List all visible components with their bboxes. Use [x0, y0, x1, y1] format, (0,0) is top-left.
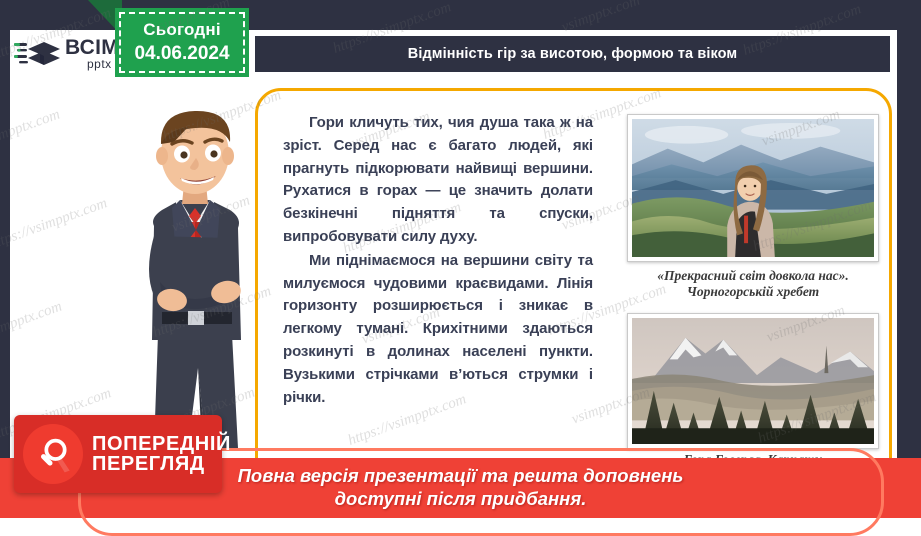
watermark: https://vsimpptx.com — [0, 195, 110, 254]
paragraph-2: Ми піднімаємося на вершини світу та милу… — [283, 250, 593, 410]
paragraph-1: Гори кличуть тих, чия душа така ж на зрі… — [283, 112, 593, 249]
banner-line-2: доступні після придбання. — [335, 488, 587, 509]
preview-line-1: ПОПЕРЕДНІЙ — [92, 434, 231, 454]
banner-text: Повна версія презентації та решта доповн… — [238, 465, 684, 511]
navy-right-strip — [897, 0, 921, 518]
logo-main-text: ВСІМ — [65, 38, 119, 58]
navy-top-right-bar — [252, 0, 921, 30]
today-label: Сьогодні — [143, 20, 221, 40]
photo-caption-1: «Прекрасний світ довкола нас». Чорногорс… — [619, 268, 887, 301]
preview-badge-text: ПОПЕРЕДНІЙ ПЕРЕГЛЯД — [92, 434, 231, 474]
caption-1-line-2: Чорногорській хребет — [687, 284, 819, 299]
magnifier-icon — [23, 424, 83, 484]
slide-canvas: ВСІМ pptx Сьогодні 04.06.2024 Відмінніст… — [0, 0, 921, 518]
caption-1-line-1: «Прекрасний світ довкола нас». — [657, 268, 849, 283]
slide-title-bar: Відмінність гір за висотою, формою та ві… — [255, 36, 890, 72]
body-text-column: Гори кличуть тих, чия душа така ж на зрі… — [283, 112, 593, 457]
today-badge: Сьогодні 04.06.2024 — [115, 8, 249, 77]
businessman-3d-character — [110, 96, 280, 456]
preview-line-2: ПЕРЕГЛЯД — [92, 454, 231, 474]
banner-line-1: Повна версія презентації та решта доповн… — [238, 465, 684, 486]
girl-on-mountain-photo — [627, 114, 879, 262]
snowy-mountain-photo — [627, 313, 879, 449]
today-date: 04.06.2024 — [134, 43, 229, 65]
preview-badge: ПОПЕРЕДНІЙ ПЕРЕГЛЯД — [14, 415, 222, 493]
graduation-cap-icon — [14, 37, 60, 71]
page-title: Відмінність гір за висотою, формою та ві… — [408, 46, 738, 62]
navy-left-strip — [0, 30, 10, 518]
